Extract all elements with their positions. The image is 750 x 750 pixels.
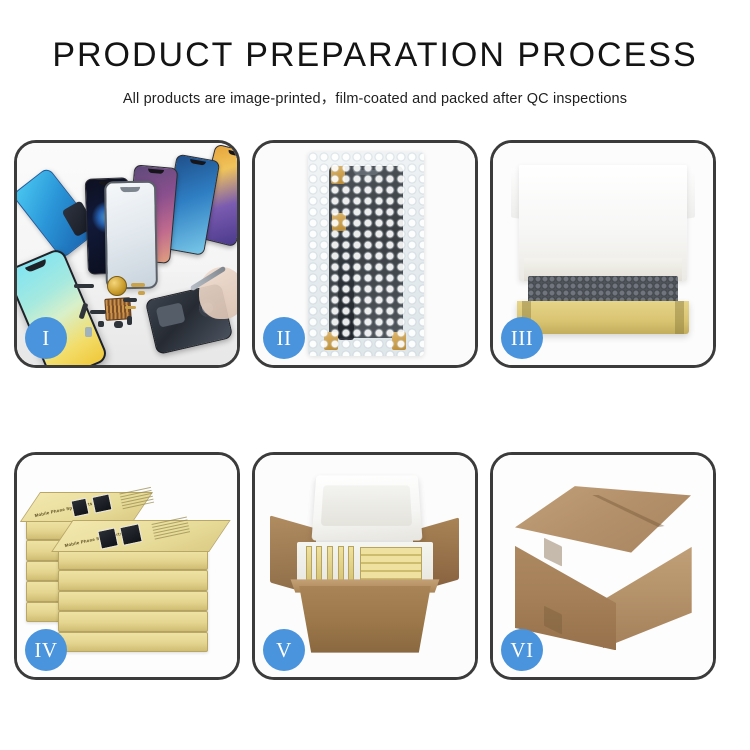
process-step-5: V	[252, 452, 478, 680]
stacked-box	[58, 570, 208, 591]
spare-part	[90, 310, 106, 314]
process-step-4: Mobile Phone Spare Parts Mobile Phone Sp…	[14, 452, 240, 680]
bubble-wrap-bag	[308, 152, 425, 356]
process-step-grid: I II	[14, 140, 736, 680]
stacked-box	[58, 550, 208, 571]
header: PRODUCT PREPARATION PROCESS All products…	[0, 0, 750, 108]
process-step-2: II	[252, 140, 478, 368]
white-foam-lid	[312, 475, 423, 540]
page-subtitle: All products are image-printed，film-coat…	[0, 87, 750, 108]
flex-cable	[125, 306, 136, 309]
flex-cable	[131, 283, 145, 287]
product-preparation-infographic: PRODUCT PREPARATION PROCESS All products…	[0, 0, 750, 750]
stacked-box	[58, 632, 208, 653]
process-step-1: I	[14, 140, 240, 368]
bubble-texture	[308, 152, 425, 356]
screen-photo	[97, 527, 119, 549]
spare-part	[85, 327, 92, 337]
carton-front-face	[290, 586, 440, 653]
process-step-6: VI	[490, 452, 716, 680]
dark-bubble-foam	[528, 276, 678, 303]
step-badge-6: VI	[501, 629, 543, 671]
step-badge-5: V	[263, 629, 305, 671]
step-badge-4: IV	[25, 629, 67, 671]
spare-part	[98, 321, 104, 327]
inner-boxes-inside	[306, 546, 425, 584]
process-step-3: III	[490, 140, 716, 368]
stacked-box	[58, 611, 208, 632]
spare-part	[74, 284, 94, 288]
step-badge-3: III	[501, 317, 543, 359]
spare-part	[123, 298, 137, 302]
page-title: PRODUCT PREPARATION PROCESS	[0, 38, 750, 74]
step-badge-1: I	[25, 317, 67, 359]
step-badge-2: II	[263, 317, 305, 359]
flex-cable	[138, 291, 145, 295]
label-spec-lines	[119, 487, 154, 511]
screen-protector-glass	[104, 180, 158, 289]
stacked-box	[58, 591, 208, 612]
spare-part	[114, 321, 123, 328]
spare-part	[127, 316, 132, 325]
yellow-box-tray	[517, 301, 689, 334]
